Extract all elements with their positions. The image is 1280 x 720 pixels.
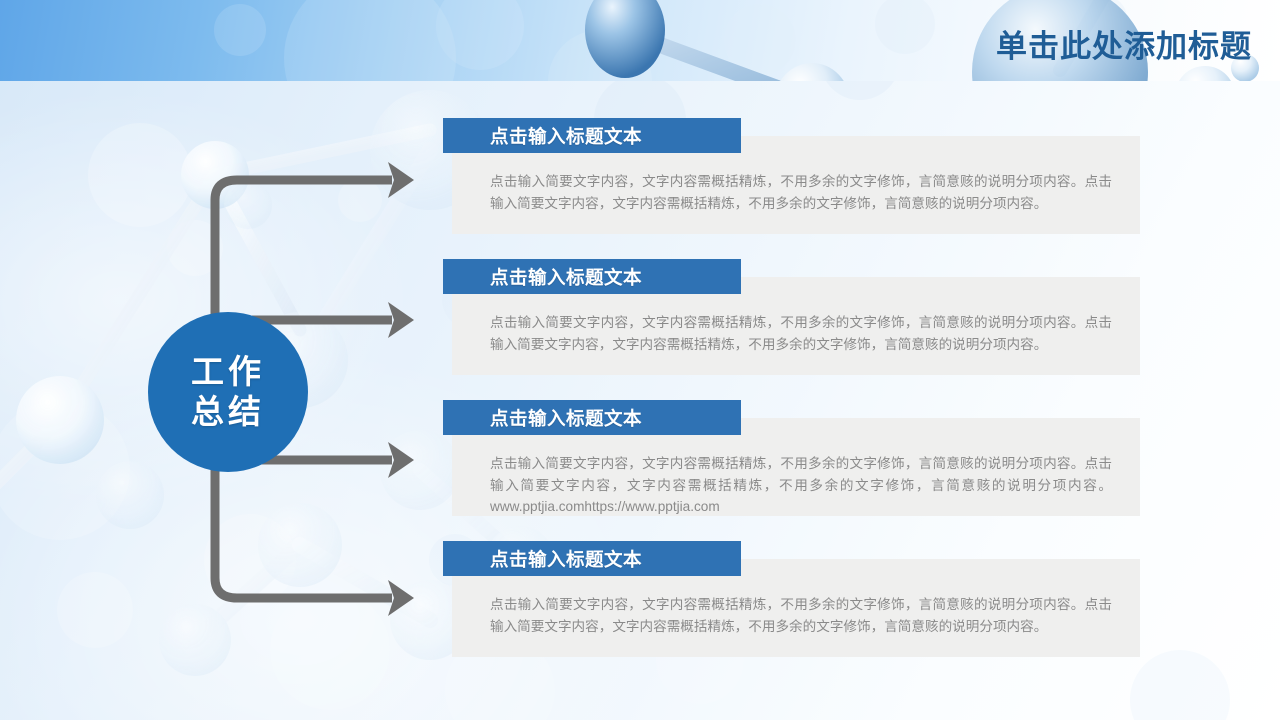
block-body-1: 点击输入简要文字内容，文字内容需概括精炼，不用多余的文字修饰，言简意赅的说明分项… [490,171,1112,214]
block-title-bar-3[interactable]: 点击输入标题文本 [443,400,741,435]
block-title-bar-1[interactable]: 点击输入标题文本 [443,118,741,153]
hub-line-1: 工作 [191,352,265,392]
block-title-1: 点击输入标题文本 [490,123,642,149]
block-title-bar-4[interactable]: 点击输入标题文本 [443,541,741,576]
center-hub-circle[interactable]: 工作 总结 [148,312,308,472]
block-title-2: 点击输入标题文本 [490,264,642,290]
block-body-4: 点击输入简要文字内容，文字内容需概括精炼，不用多余的文字修饰，言简意赅的说明分项… [490,594,1112,637]
block-title-4: 点击输入标题文本 [490,546,642,572]
block-title-bar-2[interactable]: 点击输入标题文本 [443,259,741,294]
block-body-2: 点击输入简要文字内容，文字内容需概括精炼，不用多余的文字修饰，言简意赅的说明分项… [490,312,1112,355]
arrow-path-4 [215,452,392,598]
block-body-3: 点击输入简要文字内容，文字内容需概括精炼，不用多余的文字修饰，言简意赅的说明分项… [490,453,1112,518]
block-title-3: 点击输入标题文本 [490,405,642,431]
slide-canvas: 单击此处添加标题 工作 总结 点击输入标题文本 点击输入简要文字内 [0,0,1280,720]
hub-line-2: 总结 [191,392,265,432]
